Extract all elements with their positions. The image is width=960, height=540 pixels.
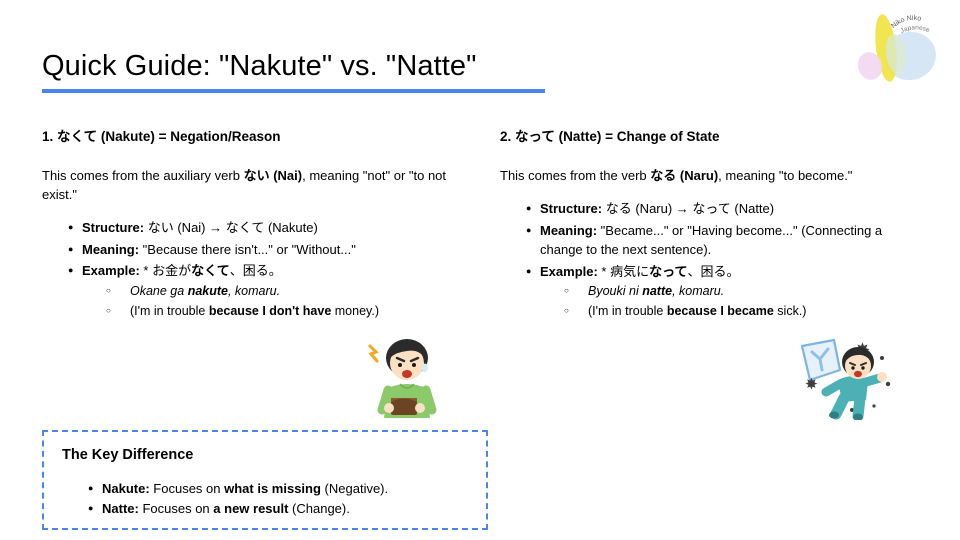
left-example-text-bold: なくて — [191, 263, 230, 278]
sick-person-virus-illustration — [796, 336, 896, 420]
right-intro-suffix: , meaning "to become." — [718, 168, 852, 183]
right-intro-paragraph: This comes from the verb なる (Naru), mean… — [500, 166, 925, 185]
left-column: 1. なくて (Nakute) = Negation/Reason This c… — [42, 128, 462, 323]
right-example-text-bold: なって — [649, 264, 687, 279]
right-bullet-meaning: Meaning: "Became..." or "Having become..… — [526, 221, 925, 260]
right-translation-after: sick.) — [774, 304, 807, 318]
key-nakute-bold: what is missing — [224, 481, 321, 496]
right-romaji-bold: natte — [642, 284, 672, 298]
left-translation-before: (I'm in trouble — [130, 304, 209, 318]
key-nakute-after: (Negative). — [321, 481, 388, 496]
left-meaning-text: "Because there isn't..." or "Without..." — [139, 242, 356, 257]
left-example-label: Example: — [82, 263, 140, 278]
right-example-text-before: * 病気に — [598, 264, 649, 279]
key-natte-label: Natte: — [102, 501, 139, 516]
right-romaji-before: Byouki ni — [588, 284, 642, 298]
key-difference-item-natte: Natte: Focuses on a new result (Change). — [88, 499, 486, 519]
left-intro-prefix: This comes from the auxiliary verb — [42, 168, 244, 183]
niko-niko-japanese-logo: Niko Niko Japanese — [848, 8, 952, 92]
key-natte-after: (Change). — [288, 501, 349, 516]
left-bullet-meaning: Meaning: "Because there isn't..." or "Wi… — [68, 240, 462, 260]
right-bullet-example: Example: * 病気になって、困る。 Byouki ni natte, k… — [526, 262, 925, 322]
key-nakute-label: Nakute: — [102, 481, 150, 496]
right-romaji-after: , komaru. — [672, 284, 724, 298]
right-structure-label: Structure: — [540, 201, 602, 216]
key-difference-title: The Key Difference — [62, 447, 486, 463]
left-bullet-example: Example: * お金がなくて、困る。 Okane ga nakute, k… — [68, 261, 462, 321]
right-intro-prefix: This comes from the verb — [500, 168, 650, 183]
right-section-heading: 2. なって (Natte) = Change of State — [500, 128, 925, 146]
troubled-man-empty-wallet-illustration — [362, 334, 444, 420]
left-meaning-label: Meaning: — [82, 242, 139, 257]
title-block: Quick Guide: "Nakute" vs. "Natte" — [42, 48, 682, 93]
left-intro-bold: ない (Nai) — [244, 168, 303, 183]
left-romaji-before: Okane ga — [130, 284, 188, 298]
right-translation-bold: because I became — [667, 304, 774, 318]
key-natte-bold: a new result — [213, 501, 288, 516]
slide-canvas: Niko Niko Japanese Quick Guide: "Nakute"… — [0, 0, 960, 540]
key-natte-before: Focuses on — [139, 501, 213, 516]
left-sub-bullet-romaji: Okane ga nakute, komaru. — [106, 281, 462, 301]
key-difference-list: Nakute: Focuses on what is missing (Nega… — [44, 479, 486, 519]
right-sub-bullet-romaji: Byouki ni natte, komaru. — [564, 281, 925, 301]
left-sub-bullet-translation: (I'm in trouble because I don't have mon… — [106, 301, 462, 321]
right-translation-before: (I'm in trouble — [588, 304, 667, 318]
right-meaning-label: Meaning: — [540, 223, 597, 238]
right-example-text-after: 、困る。 — [687, 264, 739, 279]
left-romaji-bold: nakute — [188, 284, 228, 298]
left-translation-bold: because I don't have — [209, 304, 331, 318]
left-example-text-before: * お金が — [140, 263, 191, 278]
key-difference-box: The Key Difference Nakute: Focuses on wh… — [42, 430, 488, 530]
left-structure-label: Structure: — [82, 220, 144, 235]
left-sub-bullet-list: Okane ga nakute, komaru. (I'm in trouble… — [82, 281, 462, 321]
left-bullet-list: Structure: ない (Nai) → なくて (Nakute) Meani… — [42, 218, 462, 321]
left-example-text-after: 、困る。 — [230, 263, 282, 278]
key-nakute-before: Focuses on — [150, 481, 224, 496]
right-sub-bullet-translation: (I'm in trouble because I became sick.) — [564, 301, 925, 321]
right-sub-bullet-list: Byouki ni natte, komaru. (I'm in trouble… — [540, 281, 925, 321]
key-difference-item-nakute: Nakute: Focuses on what is missing (Nega… — [88, 479, 486, 499]
left-romaji-after: , komaru. — [228, 284, 280, 298]
right-example-label: Example: — [540, 264, 598, 279]
right-bullet-list: Structure: なる (Naru) → なって (Natte) Meani… — [500, 199, 925, 321]
right-bullet-structure: Structure: なる (Naru) → なって (Natte) — [526, 199, 925, 219]
title-underline-rule — [42, 89, 545, 93]
left-section-heading: 1. なくて (Nakute) = Negation/Reason — [42, 128, 462, 146]
left-intro-paragraph: This comes from the auxiliary verb ない (N… — [42, 166, 462, 204]
left-translation-after: money.) — [331, 304, 379, 318]
right-structure-text: なる (Naru) → なって (Natte) — [602, 201, 774, 216]
left-structure-text: ない (Nai) → なくて (Nakute) — [144, 220, 318, 235]
page-title: Quick Guide: "Nakute" vs. "Natte" — [42, 48, 682, 84]
left-bullet-structure: Structure: ない (Nai) → なくて (Nakute) — [68, 218, 462, 238]
right-column: 2. なって (Natte) = Change of State This co… — [500, 128, 925, 323]
right-intro-bold: なる (Naru) — [650, 168, 718, 183]
